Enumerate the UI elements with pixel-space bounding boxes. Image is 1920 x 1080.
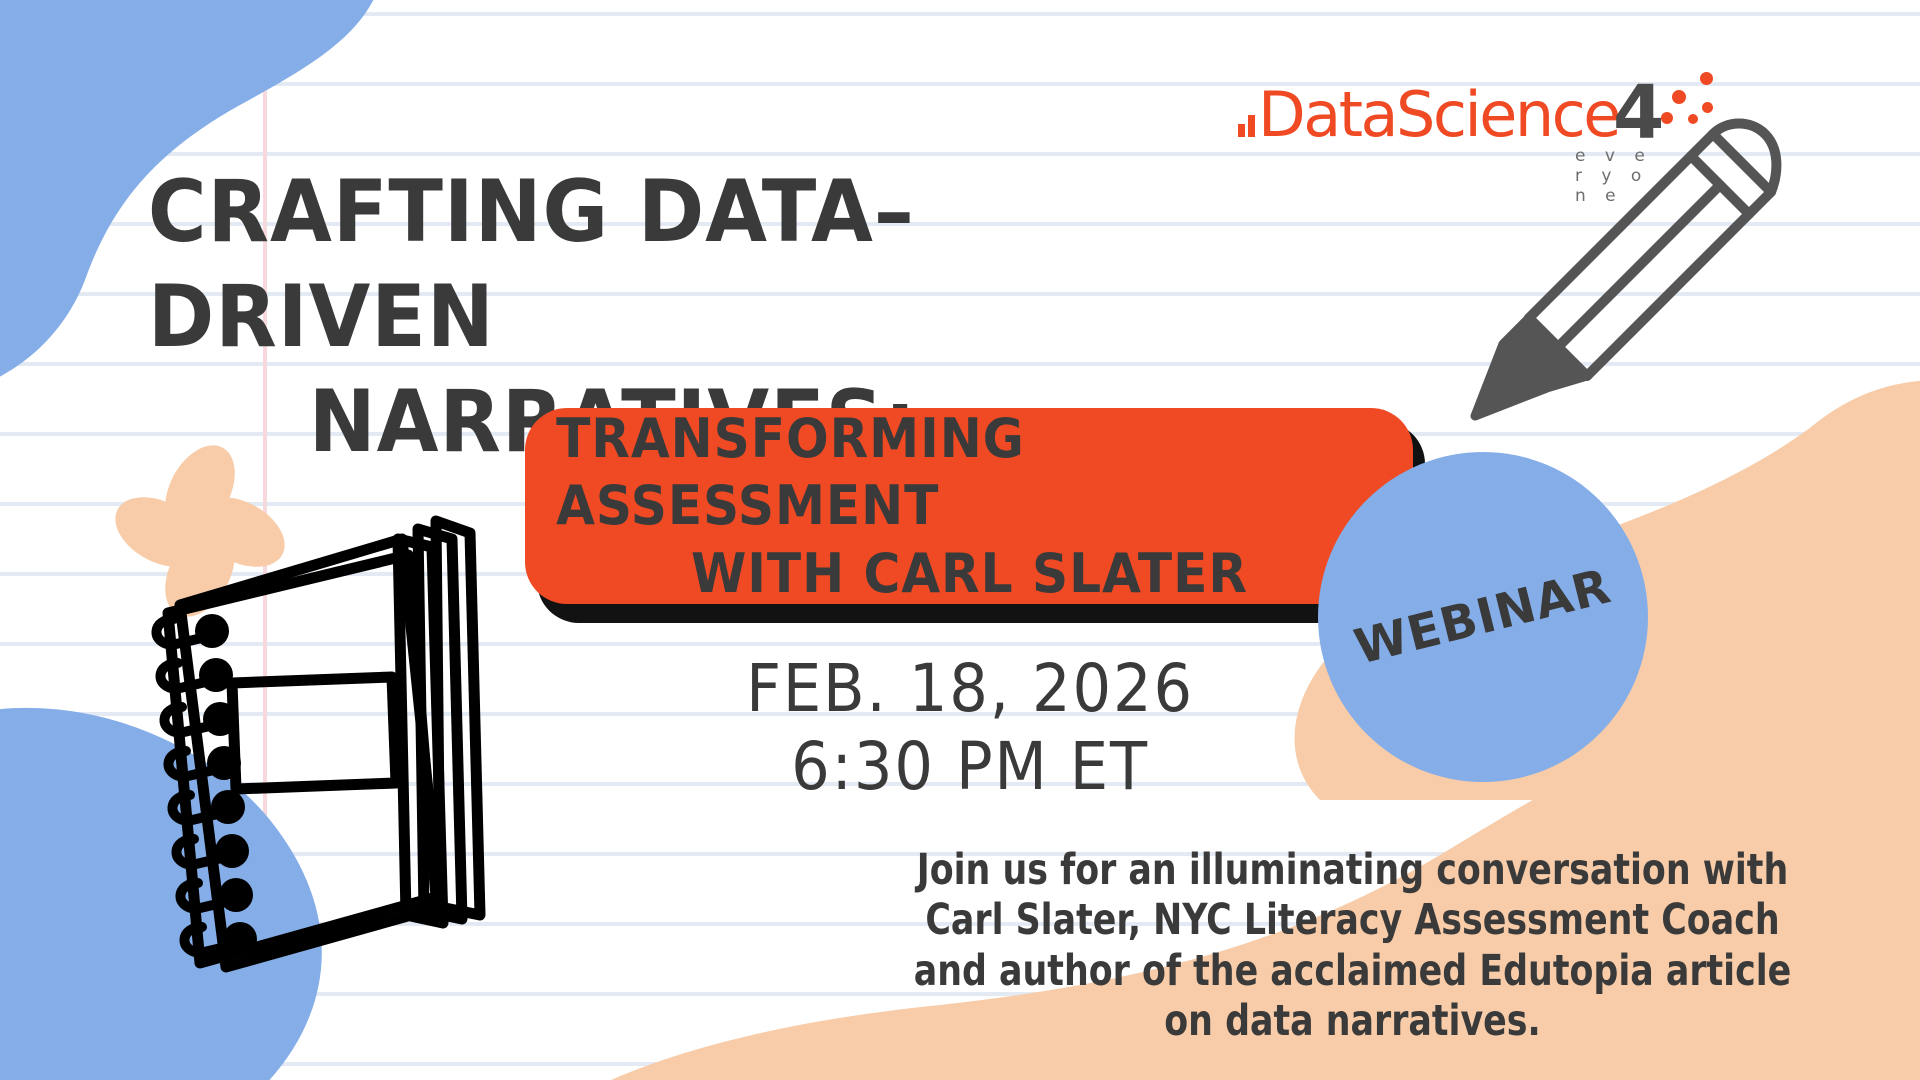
webinar-badge-label: WEBINAR [1349,558,1616,676]
headline-line-1: CRAFTING DATA–DRIVEN [148,160,1106,370]
scatter-dots-icon [1656,66,1736,122]
event-date: FEB. 18, 2026 [648,650,1292,728]
badge-line-1: TRANSFORMING ASSESSMENT [556,405,1382,540]
logo-tagline: e v e r y o n e [1575,146,1664,206]
webinar-badge: WEBINAR [1318,452,1648,782]
logo-wordmark: DataScience [1258,84,1619,146]
event-datetime: FEB. 18, 2026 6:30 PM ET [648,650,1292,806]
event-time: 6:30 PM ET [648,728,1292,806]
bar-chart-icon [1238,115,1255,137]
description-line-1: Join us for an illuminating conversation… [864,845,1841,895]
spiral-notebook-icon [140,515,560,1025]
webinar-poster: DataScience 4 e v e r y o n e CRAFTING D… [0,0,1920,1080]
datascience4everyone-logo[interactable]: DataScience 4 e v e r y o n e [1238,82,1664,146]
badge-line-2: WITH CARL SLATER [691,540,1248,608]
description-line-3: and author of the acclaimed Edutopia art… [864,946,1841,996]
description-line-2: Carl Slater, NYC Literacy Assessment Coa… [864,895,1841,945]
event-description: Join us for an illuminating conversation… [864,845,1841,1046]
session-title-badge: TRANSFORMING ASSESSMENT WITH CARL SLATER [525,408,1425,623]
description-line-4: on data narratives. [864,996,1841,1046]
